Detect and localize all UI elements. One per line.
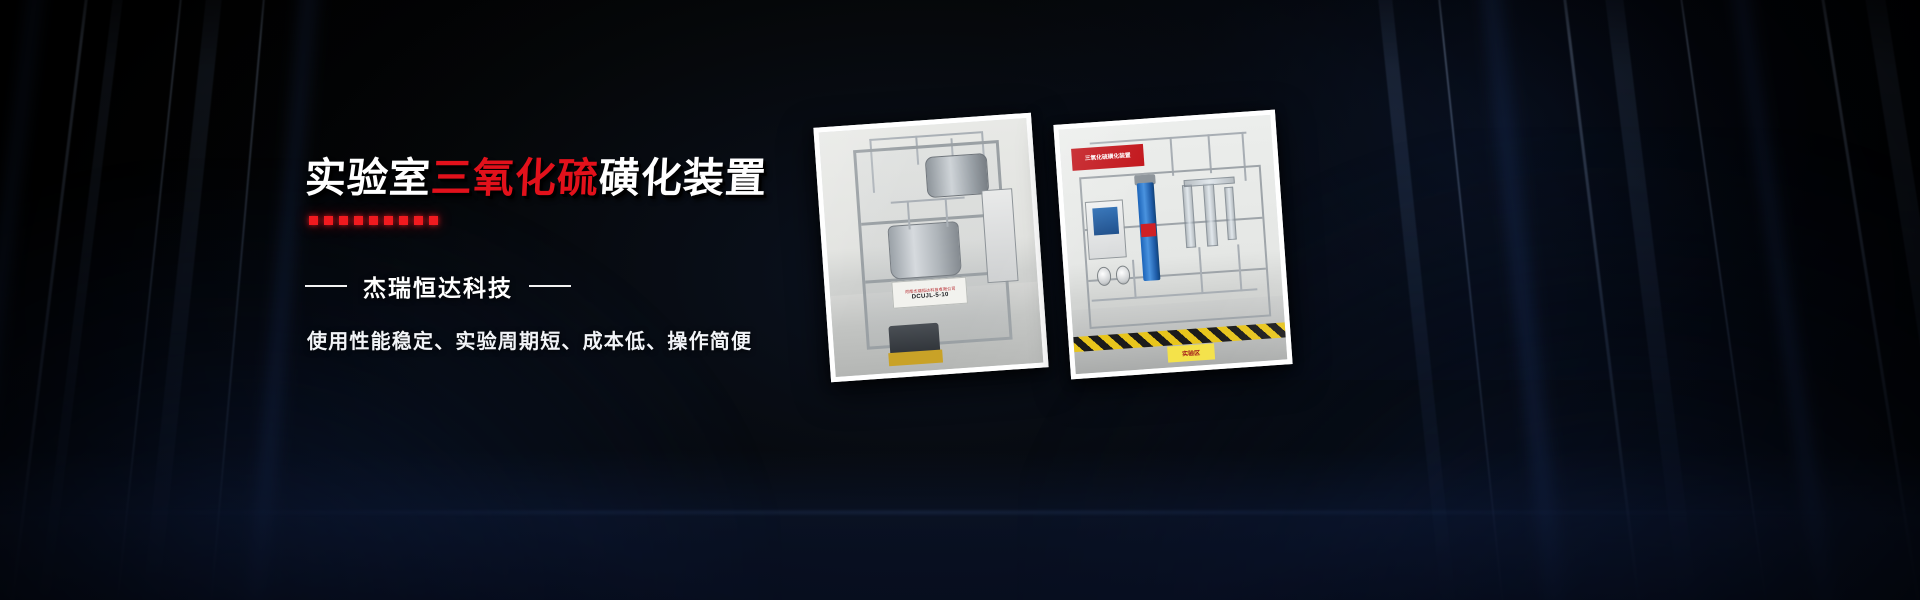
- equipment-nameplate: 河南杰瑞恒达科技有限公司 DCUJL-5-10: [892, 277, 969, 309]
- accent-dot: [324, 216, 333, 225]
- headline-segment-1: 实验室: [304, 154, 433, 202]
- photo-content: 三氧化硫磺化装置: [1059, 115, 1288, 374]
- product-photo-pilot-reactor[interactable]: 河南杰瑞恒达科技有限公司 DCUJL-5-10: [813, 113, 1048, 383]
- zone-sign: 实验区: [1167, 344, 1215, 363]
- accent-dot: [414, 216, 423, 225]
- accent-dot: [399, 216, 408, 225]
- page-title: 实验室三氧化硫磺化装置: [304, 158, 826, 199]
- accent-dot: [339, 216, 348, 225]
- rule-right-icon: [529, 285, 571, 287]
- brand-tagline: 杰瑞恒达科技: [305, 269, 825, 303]
- banner-text-block: 实验室三氧化硫磺化装置 杰瑞恒达科技 使用性能稳定、实验周期短、成本低、操作简便: [305, 158, 825, 354]
- accent-dot: [384, 216, 393, 225]
- rule-left-icon: [305, 285, 347, 287]
- product-photo-sulfonation-rig[interactable]: 三氧化硫磺化装置: [1053, 110, 1292, 380]
- hero-banner: 实验室三氧化硫磺化装置 杰瑞恒达科技 使用性能稳定、实验周期短、成本低、操作简便: [0, 0, 1920, 600]
- accent-dot: [309, 216, 318, 225]
- upper-vessel: [925, 153, 990, 199]
- wall-banner-text: 三氧化硫磺化装置: [1084, 151, 1130, 162]
- reactor-vessel: [888, 221, 962, 280]
- column-red-label: [1141, 224, 1157, 237]
- headline-segment-3: 磺化装置: [598, 154, 769, 202]
- photo-content: 河南杰瑞恒达科技有限公司 DCUJL-5-10: [819, 118, 1044, 377]
- accent-dot: [429, 216, 438, 225]
- accent-dot: [369, 216, 378, 225]
- hmi-screen: [1092, 207, 1119, 236]
- product-photo-group: 河南杰瑞恒达科技有限公司 DCUJL-5-10 三氧化硫磺化装置: [800, 95, 1320, 415]
- accent-dots: [309, 216, 825, 225]
- accent-dot: [354, 216, 363, 225]
- headline-segment-2: 三氧化硫: [430, 154, 601, 202]
- zone-sign-text: 实验区: [1182, 348, 1201, 358]
- control-panel: [981, 188, 1019, 283]
- banner-subtitle: 使用性能稳定、实验周期短、成本低、操作简便: [307, 325, 825, 354]
- brand-name: 杰瑞恒达科技: [363, 269, 513, 303]
